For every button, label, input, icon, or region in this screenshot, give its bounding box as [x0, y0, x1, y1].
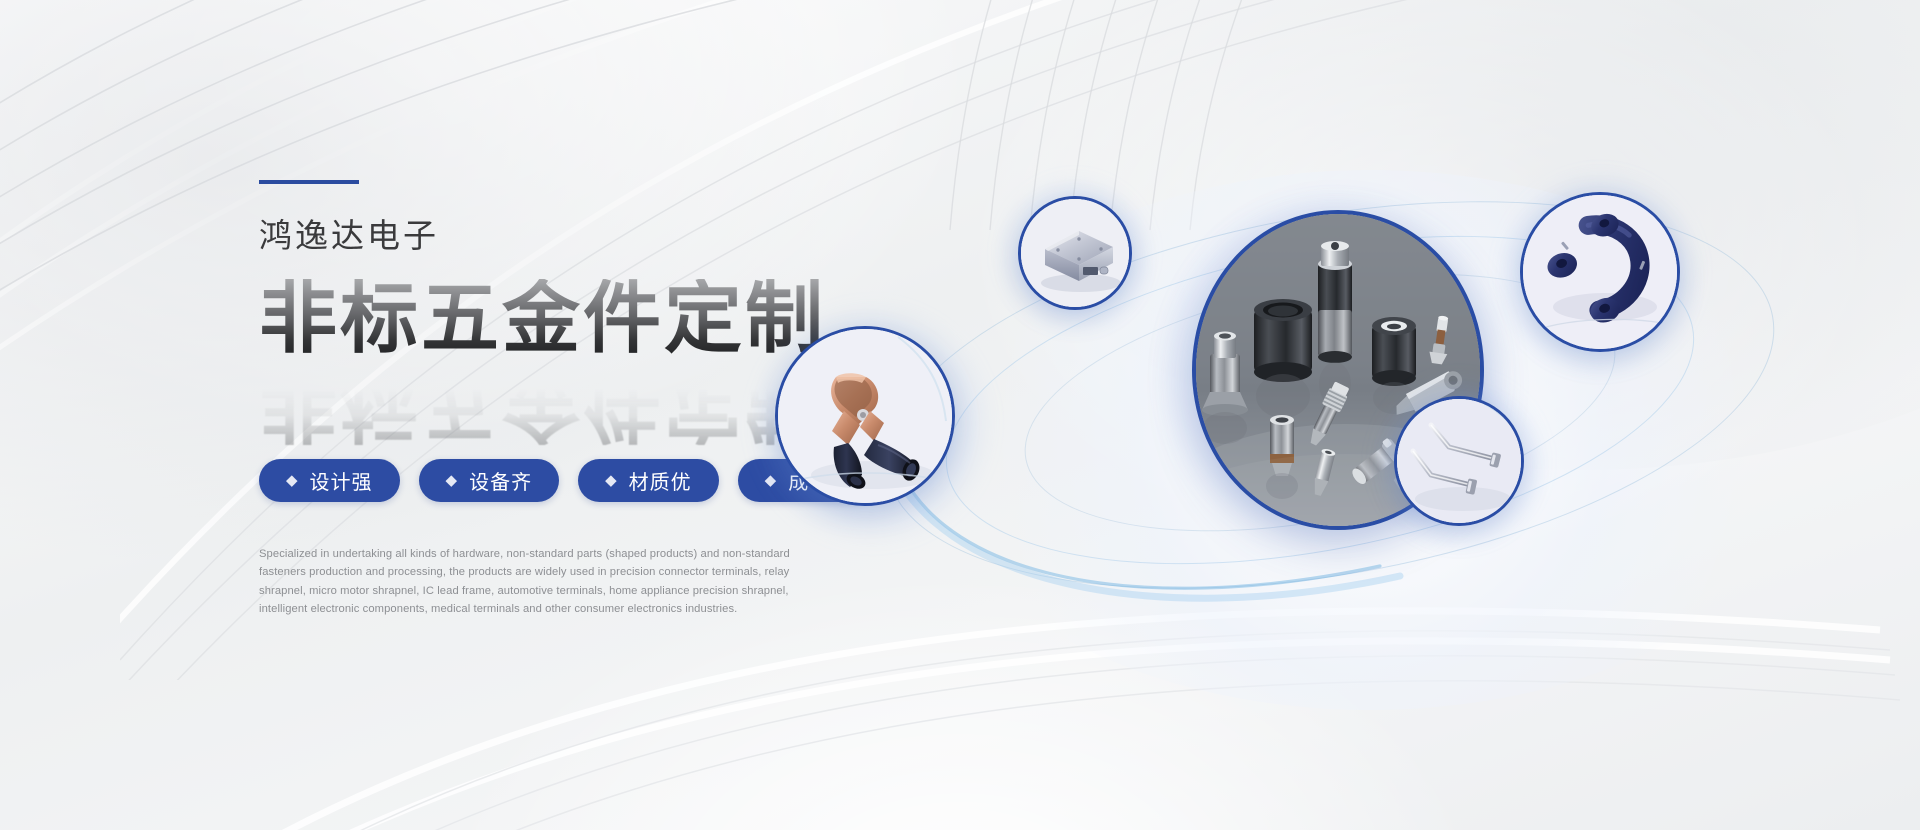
bubble-photo — [778, 329, 952, 503]
accent-bar — [259, 180, 359, 184]
hero-banner: 鸿逸达电子 非标五金件定制 非标五金件定制 ◆ 设计强 ◆ 设备齐 ◆ 材质优 … — [0, 0, 1920, 830]
brand-name: 鸿逸达电子 — [259, 218, 899, 254]
feature-tag-label: 设计强 — [310, 466, 373, 495]
feature-tag-material[interactable]: ◆ 材质优 — [578, 459, 719, 502]
diamond-icon: ◆ — [605, 473, 618, 488]
description-paragraph: Specialized in undertaking all kinds of … — [259, 545, 817, 618]
feature-tag-equipment[interactable]: ◆ 设备齐 — [419, 459, 560, 502]
bubble-metal-shield-enclosure[interactable] — [1018, 196, 1132, 310]
bubble-photo — [1523, 195, 1677, 349]
bubble-copper-battery-clamp[interactable] — [775, 326, 955, 506]
feature-tag-label: 设备齐 — [469, 466, 532, 495]
bubble-c-clip-retaining-ring[interactable] — [1520, 192, 1680, 352]
bubble-photo — [1397, 399, 1521, 523]
feature-tag-label: 材质优 — [629, 466, 692, 495]
bubble-photo — [1021, 199, 1129, 307]
headline-reflection: 非标五金件定制 — [259, 367, 826, 445]
diamond-icon: ◆ — [446, 473, 459, 488]
feature-tag-design[interactable]: ◆ 设计强 — [259, 459, 400, 502]
product-showcase — [900, 180, 1920, 700]
page-title: 非标五金件定制 — [259, 279, 826, 357]
bubble-bent-terminal-pins[interactable] — [1394, 396, 1524, 526]
diamond-icon: ◆ — [765, 473, 778, 488]
diamond-icon: ◆ — [286, 473, 299, 488]
